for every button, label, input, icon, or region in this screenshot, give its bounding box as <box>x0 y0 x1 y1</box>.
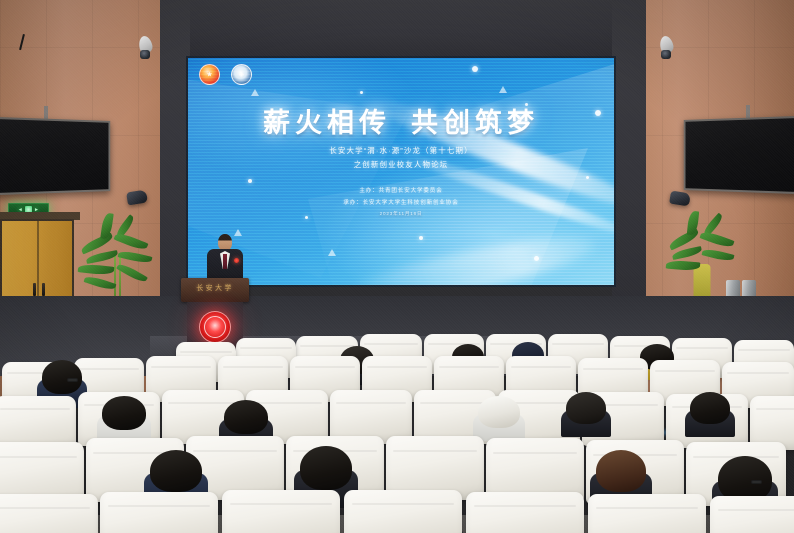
audience-member <box>150 450 202 492</box>
podium-nameplate: 长安大学 <box>181 283 249 293</box>
audience-member-head <box>690 392 730 424</box>
audience-member-head <box>224 400 268 434</box>
audience-member <box>566 392 606 424</box>
particle-dot <box>525 103 528 106</box>
upper-dark-wall <box>186 0 616 57</box>
camera-lens <box>140 50 150 59</box>
camera-lens <box>661 50 671 59</box>
audience-member-head <box>102 396 146 430</box>
particle-dot <box>534 256 539 261</box>
center-right-dark-panel <box>612 0 646 320</box>
door-handle-left[interactable] <box>33 283 36 296</box>
security-camera-icon-left <box>137 36 154 62</box>
door-handle-right[interactable] <box>42 283 45 296</box>
plant-leaf <box>114 231 149 252</box>
changan-university-emblem-icon: ◈ <box>231 64 252 85</box>
audience-member-glasses <box>67 378 78 382</box>
audience-seat[interactable] <box>710 496 794 533</box>
screen-host-line: 承办：长安大学大学生科技创新创业协会 <box>188 198 614 206</box>
speaker-lapel-badge <box>234 258 239 263</box>
plant-leaf <box>78 263 115 276</box>
screen-main-title: 薪火相传共创筑梦 <box>188 110 614 138</box>
audience-member <box>596 450 646 492</box>
side-monitor-left <box>0 117 110 195</box>
audience-seat[interactable] <box>466 492 584 533</box>
screen-organizer-line: 主办：共青团长安大学委员会 <box>188 186 614 194</box>
audience-seat[interactable] <box>588 494 706 533</box>
audience-seat[interactable] <box>100 492 218 533</box>
speaker-tie <box>223 254 227 269</box>
audience-member <box>102 396 146 430</box>
screen-subtitle-line-1: 长安大学“渭·水·源”沙龙（第十七期） <box>188 145 614 156</box>
cyl-emblem-glyph: ★ <box>206 71 212 78</box>
audience-member <box>690 392 730 424</box>
audience-member <box>478 396 520 428</box>
audience-seat[interactable] <box>222 490 340 533</box>
plant-leaf <box>699 229 734 249</box>
audience-seat[interactable] <box>344 490 462 533</box>
audience-member-glasses <box>751 480 762 484</box>
plant-leaf <box>702 247 735 263</box>
audience-member-head <box>566 392 606 424</box>
screen-logo-row: ★ ◈ <box>199 64 252 85</box>
screen-date-line: 2023年11月16日 <box>188 211 614 217</box>
screen-text-block: 薪火相传共创筑梦 长安大学“渭·水·源”沙龙（第十七期） 之创新创业校友人物论坛… <box>188 110 614 217</box>
particle-dot <box>472 66 478 72</box>
triangle-particle <box>251 89 259 96</box>
led-screen-background: ★ ◈ 薪火相传共创筑梦 长安大学“渭·水·源”沙龙（第十七期） 之创新创业校友… <box>188 58 614 285</box>
auditorium-photo: ★ ◈ 薪火相传共创筑梦 长安大学“渭·水·源”沙龙（第十七期） 之创新创业校友… <box>0 0 794 533</box>
univ-emblem-glyph: ◈ <box>239 71 244 78</box>
side-monitor-right <box>684 116 794 194</box>
led-display-screen: ★ ◈ 薪火相传共创筑梦 长安大学“渭·水·源”沙龙（第十七期） 之创新创业校友… <box>186 56 616 287</box>
triangle-particle <box>328 249 336 256</box>
audience-member-head <box>300 446 352 490</box>
security-camera-icon-right <box>658 36 675 62</box>
audience-seat[interactable] <box>0 494 98 533</box>
communist-youth-league-emblem-icon: ★ <box>199 64 220 85</box>
podium-top-panel: 长安大学 <box>181 278 249 302</box>
plant-leaf <box>118 249 153 264</box>
title-part-2: 共创筑梦 <box>411 108 539 139</box>
audience-member <box>42 360 82 394</box>
audience-member <box>224 400 268 434</box>
title-part-1: 薪火相传 <box>263 108 391 139</box>
screen-subtitle-line-2: 之创新创业校友人物论坛 <box>188 159 614 170</box>
particle-dot <box>360 91 363 94</box>
audience-member-head <box>596 450 646 492</box>
triangle-particle <box>499 86 507 93</box>
audience-member <box>300 446 352 490</box>
plant-leaf <box>84 274 117 291</box>
particle-dot <box>419 236 423 240</box>
screen-info-block: 主办：共青团长安大学委员会 承办：长安大学大学生科技创新创业协会 2023年11… <box>188 186 614 217</box>
audience-member-head <box>478 396 520 428</box>
audience-member-head <box>150 450 202 492</box>
audience-area <box>0 300 794 533</box>
